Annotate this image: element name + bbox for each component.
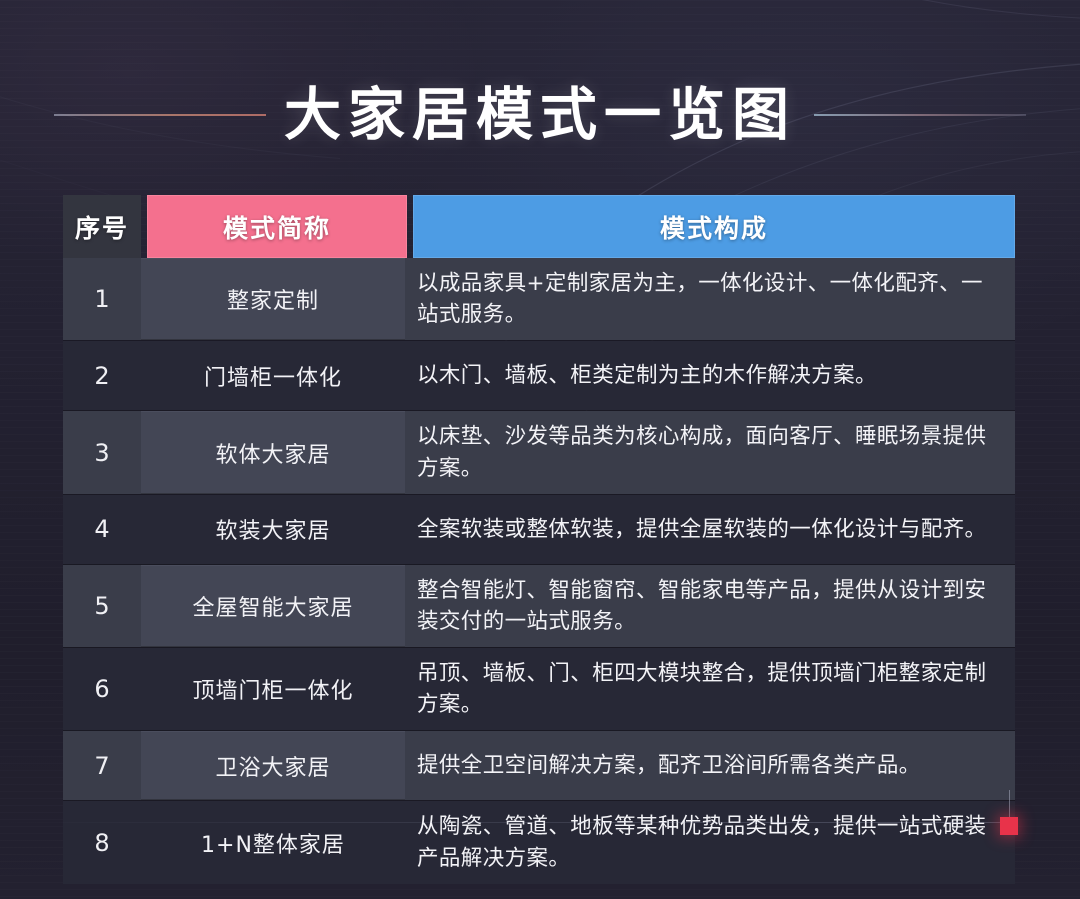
cell-no: 8 [63,801,141,883]
cell-no: 4 [63,495,141,564]
table-row: 2 门墙柜一体化 以木门、墙板、柜类定制为主的木作解决方案。 [63,341,1015,410]
cell-composition: 提供全卫空间解决方案，配齐卫浴间所需各类产品。 [405,731,1015,800]
table-row: 3 软体大家居 以床垫、沙发等品类为核心构成，面向客厅、睡眠场景提供方案。 [63,411,1015,493]
table-row: 1 整家定制 以成品家具+定制家居为主，一体化设计、一体化配齐、一站式服务。 [63,258,1015,340]
cell-composition: 从陶瓷、管道、地板等某种优势品类出发，提供一站式硬装产品解决方案。 [405,801,1015,883]
cell-composition: 以成品家具+定制家居为主，一体化设计、一体化配齐、一站式服务。 [405,258,1015,340]
column-header-no: 序号 [63,195,141,258]
poster-canvas: 大家居模式一览图 序号 模式简称 模式构成 1 整家定制 以成品家具+定制家居为… [0,0,1080,899]
bottom-hairline [0,822,1000,823]
table-body: 1 整家定制 以成品家具+定制家居为主，一体化设计、一体化配齐、一站式服务。 2… [63,258,1015,884]
cell-composition: 整合智能灯、智能窗帘、智能家电等产品，提供从设计到安装交付的一站式服务。 [405,565,1015,647]
cell-name: 1+N整体家居 [141,801,405,883]
cell-no: 1 [63,258,141,340]
cell-name: 门墙柜一体化 [141,341,405,410]
cell-no: 7 [63,731,141,800]
cell-composition: 全案软装或整体软装，提供全屋软装的一体化设计与配齐。 [405,495,1015,564]
column-header-name: 模式简称 [147,195,407,258]
cell-composition: 以床垫、沙发等品类为核心构成，面向客厅、睡眠场景提供方案。 [405,411,1015,493]
table-row: 5 全屋智能大家居 整合智能灯、智能窗帘、智能家电等产品，提供从设计到安装交付的… [63,565,1015,647]
cell-composition: 吊顶、墙板、门、柜四大模块整合，提供顶墙门柜整家定制方案。 [405,648,1015,730]
cell-composition: 以木门、墙板、柜类定制为主的木作解决方案。 [405,341,1015,410]
cell-no: 5 [63,565,141,647]
table-row: 8 1+N整体家居 从陶瓷、管道、地板等某种优势品类出发，提供一站式硬装产品解决… [63,801,1015,883]
cell-no: 3 [63,411,141,493]
table-row: 6 顶墙门柜一体化 吊顶、墙板、门、柜四大模块整合，提供顶墙门柜整家定制方案。 [63,648,1015,730]
cell-no: 2 [63,341,141,410]
column-header-composition: 模式构成 [413,195,1015,258]
cell-name: 软体大家居 [141,411,405,493]
cell-no: 6 [63,648,141,730]
page-title-row: 大家居模式一览图 [0,76,1080,154]
page-title: 大家居模式一览图 [284,87,796,144]
accent-tick [1009,790,1010,818]
modes-table: 序号 模式简称 模式构成 1 整家定制 以成品家具+定制家居为主，一体化设计、一… [63,195,1015,884]
cell-name: 顶墙门柜一体化 [141,648,405,730]
table-row: 4 软装大家居 全案软装或整体软装，提供全屋软装的一体化设计与配齐。 [63,495,1015,564]
cell-name: 卫浴大家居 [141,731,405,800]
title-rule-left [54,114,266,116]
accent-square-icon [1000,817,1018,835]
table-row: 7 卫浴大家居 提供全卫空间解决方案，配齐卫浴间所需各类产品。 [63,731,1015,800]
cell-name: 整家定制 [141,258,405,340]
cell-name: 全屋智能大家居 [141,565,405,647]
cell-name: 软装大家居 [141,495,405,564]
table-header-row: 序号 模式简称 模式构成 [63,195,1015,258]
title-rule-right [814,114,1026,116]
